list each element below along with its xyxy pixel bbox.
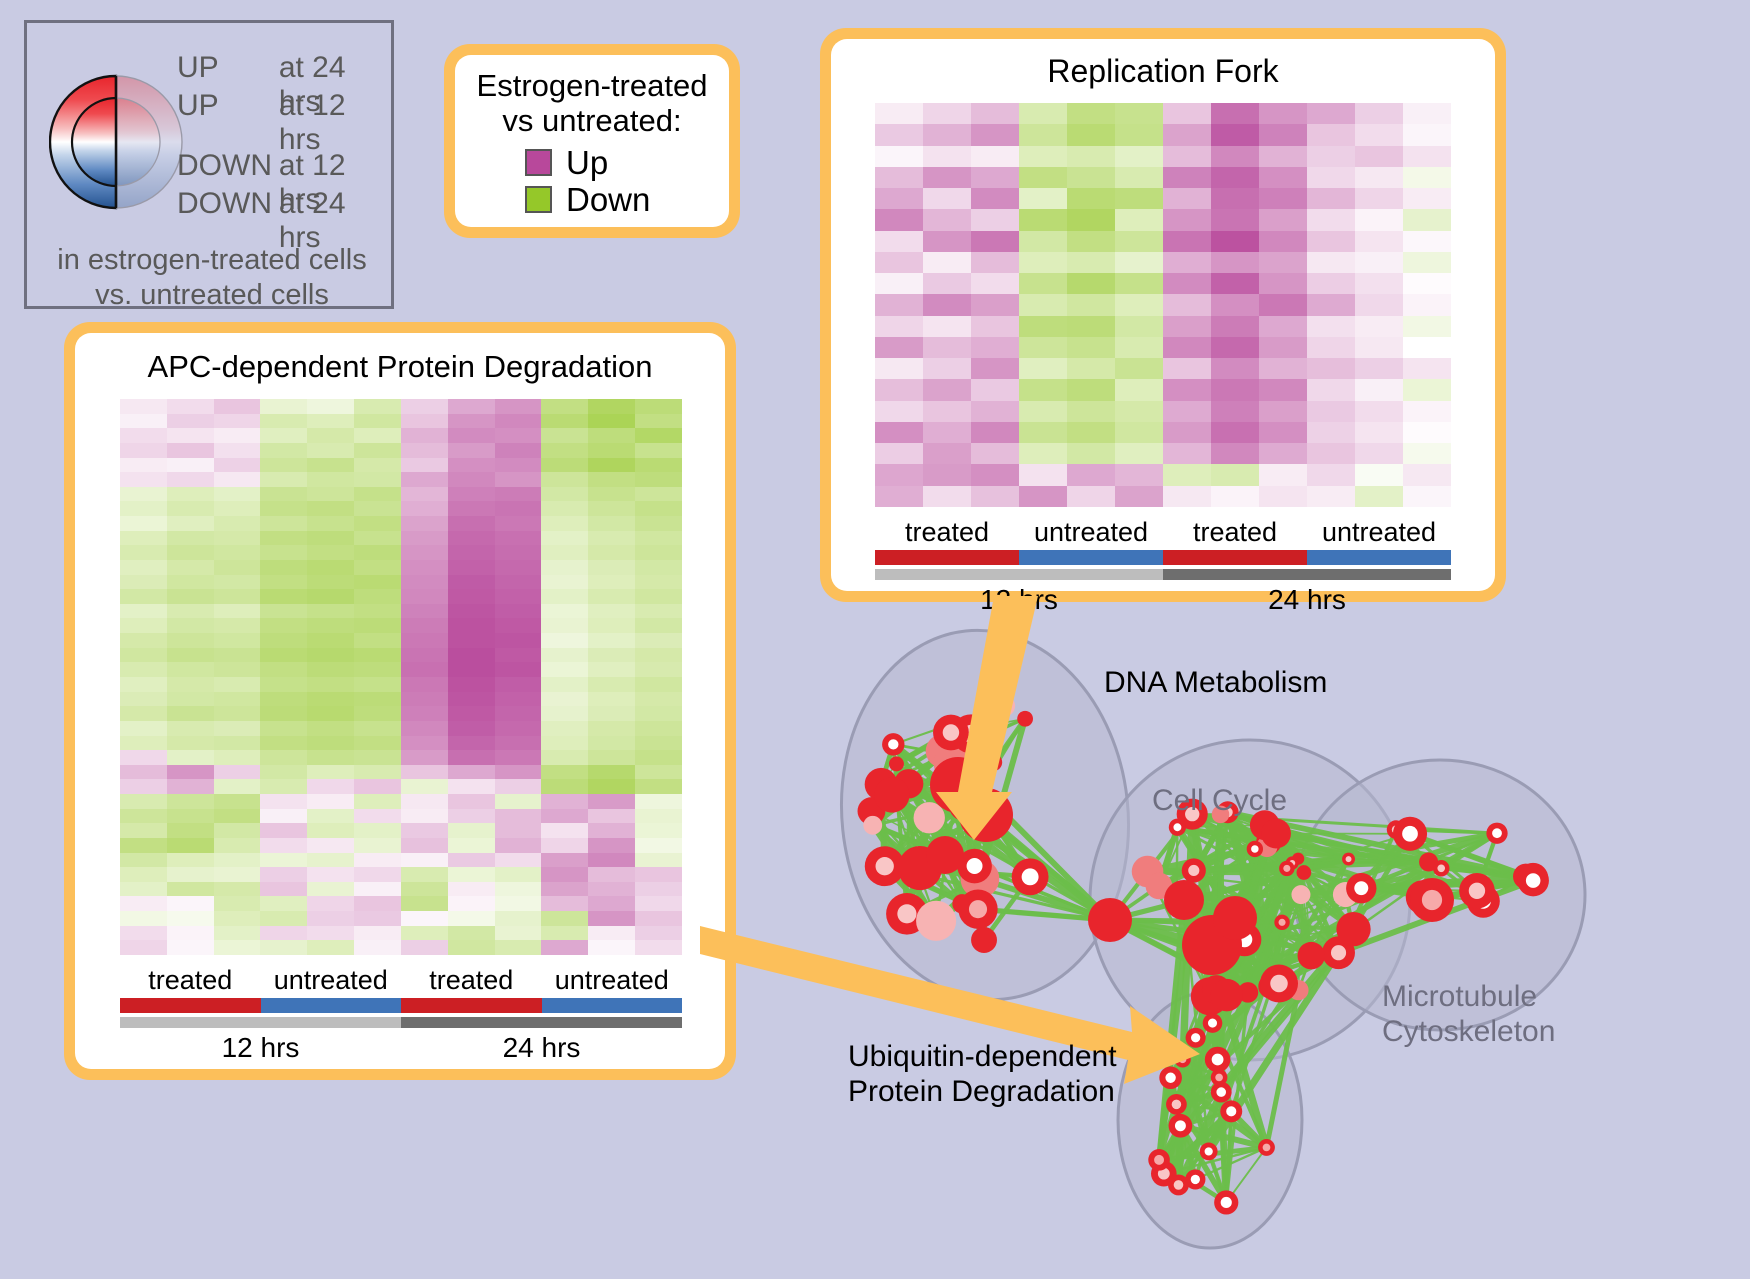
heatmap-cell [354,618,401,633]
heatmap-cell [1019,124,1067,145]
heatmap-cell [1355,379,1403,400]
heatmap-cell [1115,316,1163,337]
heatmap-cell [354,721,401,736]
heatmap-cell [214,794,261,809]
heatmap-cell [167,706,214,721]
heatmap-cell [1115,124,1163,145]
heatmap-cell [1259,486,1307,507]
heatmap-cell [401,940,448,955]
heatmap-cell [923,464,971,485]
heatmap-cell [1211,209,1259,230]
bar-segment-12hrs [120,1017,401,1028]
heatmap-cell [588,633,635,648]
heatmap-cell [1067,124,1115,145]
heatmap-cell [120,428,167,443]
heatmap-cell [1067,316,1115,337]
heatmap-cell [167,677,214,692]
heatmap-cell [635,736,682,751]
legend-item-up: Up [525,144,711,181]
bar-segment-untreated [542,998,683,1013]
heatmap-cell [495,604,542,619]
heatmap-cell [214,414,261,429]
heatmap-cell [307,604,354,619]
bar-segment-treated [401,998,542,1013]
heatmap-cell [1211,252,1259,273]
heatmap-cell [1067,486,1115,507]
heatmap-cell [167,940,214,955]
heatmap-cell [541,750,588,765]
heatmap-cell [167,809,214,824]
bar-segment-treated [120,998,261,1013]
heatmap-cell [401,531,448,546]
heatmap-cell [971,124,1019,145]
heatmap-cell [875,103,923,124]
heatmap-cell [1355,146,1403,167]
heatmap-legend-title-line2: vs untreated: [473,104,711,139]
axis-group-labels: treated untreated treated untreated [875,517,1451,548]
heatmap-cell [1067,167,1115,188]
heatmap-cell [260,853,307,868]
heatmap-cell [260,458,307,473]
heatmap-cell [1067,337,1115,358]
heatmap-cell [1163,231,1211,252]
heatmap-cell [588,545,635,560]
heatmap-cell [448,677,495,692]
heatmap-cell [1019,358,1067,379]
heatmap-cell [167,501,214,516]
heatmap-cell [214,428,261,443]
heatmap-cell [214,736,261,751]
heatmap-cell [1115,464,1163,485]
cluster-label-line1: Microtubule [1382,980,1555,1015]
heatmap-cell [214,604,261,619]
heatmap-cell [120,458,167,473]
heatmap-cell [875,188,923,209]
heatmap-cell [541,648,588,663]
heatmap-cell [354,501,401,516]
heatmap-cell [1211,443,1259,464]
heatmap-cell [1307,252,1355,273]
heatmap-cell [120,472,167,487]
heatmap-cell [541,589,588,604]
heatmap-cell [635,662,682,677]
heatmap-cell [120,896,167,911]
heatmap-cell [875,443,923,464]
heatmap-cell [541,458,588,473]
heatmap-cell [1403,358,1451,379]
heatmap-cell [260,692,307,707]
bar-segment-treated [1163,550,1307,565]
heatmap-cell [401,779,448,794]
heatmap-cell [635,750,682,765]
heatmap-cell [1403,464,1451,485]
heatmap-cell [1211,358,1259,379]
heatmap-cell [635,882,682,897]
heatmap-cell [448,560,495,575]
heatmap-cell [354,809,401,824]
heatmap-legend-title-line1: Estrogen-treated [473,69,711,104]
axis-group-label: untreated [1019,517,1163,548]
heatmap-cell [1115,167,1163,188]
heatmap-cell [1403,167,1451,188]
replication-fork-panel: Replication Fork treated untreated treat… [820,28,1506,602]
heatmap-cell [541,882,588,897]
heatmap-cell [923,337,971,358]
heatmap-cell [448,531,495,546]
heatmap-cell [875,379,923,400]
heatmap-cell [1019,337,1067,358]
heatmap-cell [448,721,495,736]
heatmap-cell [260,750,307,765]
heatmap-cell [1019,379,1067,400]
heatmap-cell [260,575,307,590]
heatmap-cell [635,853,682,868]
heatmap-cell [354,531,401,546]
heatmap-cell [214,853,261,868]
heatmap-cell [307,911,354,926]
heatmap-cell [588,662,635,677]
heatmap-cell [541,926,588,941]
heatmap-cell [541,838,588,853]
heatmap-cell [214,706,261,721]
heatmap-cell [167,838,214,853]
heatmap-cell [260,721,307,736]
heatmap-cell [167,472,214,487]
heatmap-cell [120,560,167,575]
heatmap-cell [260,867,307,882]
heatmap-cell [260,589,307,604]
heatmap-cell [401,399,448,414]
heatmap-cell [354,428,401,443]
heatmap-cell [260,560,307,575]
heatmap-cell [541,604,588,619]
heatmap-cell [875,401,923,422]
heatmap-cell [448,487,495,502]
heatmap-cell [167,648,214,663]
heatmap-cell [354,853,401,868]
heatmap-cell [214,692,261,707]
heatmap-cell [635,604,682,619]
heatmap-cell [401,853,448,868]
heatmap-cell [260,706,307,721]
heatmap-cell [495,531,542,546]
heatmap-cell [401,882,448,897]
heatmap-cell [875,337,923,358]
heatmap-cell [448,765,495,780]
heatmap-cell [588,560,635,575]
heatmap-cell [1019,486,1067,507]
heatmap-cell [971,188,1019,209]
heatmap-cell [260,736,307,751]
heatmap-cell [354,648,401,663]
heatmap-cell [448,911,495,926]
heatmap-cell [167,399,214,414]
heatmap-cell [1163,146,1211,167]
heatmap-cell [1163,422,1211,443]
heatmap-cell [260,633,307,648]
heatmap-cell [1403,273,1451,294]
heatmap-cell [120,736,167,751]
heatmap-cell [120,604,167,619]
heatmap-cell [260,545,307,560]
heatmap-cell [923,103,971,124]
heatmap-cell [1163,252,1211,273]
heatmap-cell [214,867,261,882]
heatmap-cell [1355,209,1403,230]
apc-degradation-inner: APC-dependent Protein Degradation treate… [75,333,725,1069]
heatmap-cell [260,662,307,677]
heatmap-cell [1163,443,1211,464]
heatmap-cell [1019,316,1067,337]
heatmap-cell [401,926,448,941]
heatmap-cell [260,882,307,897]
heatmap-cell [1355,252,1403,273]
heatmap-cell [354,472,401,487]
heatmap-cell [1355,188,1403,209]
heatmap-cell [541,501,588,516]
heatmap-cell [260,823,307,838]
heatmap-cell [448,399,495,414]
apc-degradation-panel: APC-dependent Protein Degradation treate… [64,322,736,1080]
heatmap-cell [875,146,923,167]
heatmap-cell [120,501,167,516]
heatmap-cell [260,472,307,487]
heatmap-cell [1355,273,1403,294]
heatmap-cell [1211,103,1259,124]
heatmap-cell [971,167,1019,188]
heatmap-cell [495,443,542,458]
heatmap-cell [260,516,307,531]
colorwheel-row: DOWN at 12 hrs [177,149,392,187]
heatmap-cell [1211,486,1259,507]
heatmap-cell [1115,337,1163,358]
heatmap-cell [448,823,495,838]
heatmap-cell [541,677,588,692]
colorwheel-state: UP [177,51,279,85]
heatmap-cell [495,706,542,721]
heatmap-cell [401,545,448,560]
heatmap-cell [354,487,401,502]
heatmap-cell [214,501,261,516]
colorwheel-footer: in estrogen-treated cells vs. untreated … [27,243,397,313]
heatmap-cell [307,428,354,443]
heatmap-cell [635,589,682,604]
heatmap-cell [354,750,401,765]
heatmap-cell [588,896,635,911]
heatmap-cell [1211,188,1259,209]
heatmap-cell [635,692,682,707]
heatmap-cell [167,794,214,809]
heatmap-cell [1115,273,1163,294]
heatmap-cell [588,736,635,751]
heatmap-cell [541,472,588,487]
heatmap-cell [588,809,635,824]
axis-group-label: untreated [542,965,683,996]
heatmap-cell [1307,401,1355,422]
heatmap-cell [635,911,682,926]
heatmap-cell [354,940,401,955]
heatmap-cell [1211,316,1259,337]
heatmap-cell [354,779,401,794]
heatmap-cell [635,399,682,414]
heatmap-cell [167,604,214,619]
heatmap-cell [1211,294,1259,315]
heatmap-cell [541,692,588,707]
heatmap-cell [120,706,167,721]
heatmap-cell [588,618,635,633]
heatmap-cell [495,677,542,692]
heatmap-cell [401,721,448,736]
heatmap-cell [1259,124,1307,145]
heatmap-cell [167,414,214,429]
heatmap-cell [1211,337,1259,358]
heatmap-cell [307,575,354,590]
heatmap-cell [495,721,542,736]
heatmap-cell [307,896,354,911]
heatmap-cell [875,486,923,507]
heatmap-cell [1355,486,1403,507]
heatmap-cell [635,940,682,955]
heatmap-cell [635,545,682,560]
heatmap-cell [401,501,448,516]
heatmap-cell [448,648,495,663]
heatmap-cell [635,501,682,516]
heatmap-cell [1259,337,1307,358]
heatmap-cell [1307,443,1355,464]
heatmap-cell [1307,337,1355,358]
heatmap-cell [1307,379,1355,400]
heatmap-replication-fork [875,103,1451,507]
heatmap-cell [448,633,495,648]
heatmap-cell [495,414,542,429]
heatmap-cell [167,531,214,546]
heatmap-cell [635,794,682,809]
heatmap-cell [1355,167,1403,188]
heatmap-cell [1355,124,1403,145]
axis-group-label: treated [120,965,261,996]
heatmap-cell [167,589,214,604]
heatmap-cell [167,692,214,707]
heatmap-cell [260,677,307,692]
heatmap-cell [214,677,261,692]
heatmap-cell [167,736,214,751]
heatmap-cell [541,940,588,955]
heatmap-cell [971,337,1019,358]
heatmap-cell [1307,146,1355,167]
heatmap-cell [495,648,542,663]
heatmap-cell [401,794,448,809]
heatmap-cell [541,896,588,911]
axis-group-bar [875,550,1451,565]
replication-fork-inner: Replication Fork treated untreated treat… [831,39,1495,591]
axis-group-label: treated [875,517,1019,548]
heatmap-cell [1067,379,1115,400]
heatmap-cell [214,472,261,487]
heatmap-cell [120,692,167,707]
colorwheel-legend-box: UP at 24 hrs UP at 12 hrs DOWN at 12 hrs… [24,20,394,309]
apc-axis: treated untreated treated untreated 12 h… [120,965,682,1064]
heatmap-cell [401,516,448,531]
heatmap-cell [1019,209,1067,230]
colorwheel-row: UP at 12 hrs [177,89,392,127]
heatmap-cell [307,560,354,575]
heatmap-cell [1115,379,1163,400]
heatmap-cell [260,414,307,429]
heatmap-cell [1019,231,1067,252]
heatmap-legend-inner: Estrogen-treated vs untreated: Up Down [455,55,729,227]
heatmap-cell [495,882,542,897]
heatmap-cell [401,692,448,707]
heatmap-cell [1067,188,1115,209]
heatmap-cell [167,721,214,736]
heatmap-cell [541,575,588,590]
heatmap-cell [354,443,401,458]
heatmap-cell [307,706,354,721]
heatmap-cell [401,765,448,780]
heatmap-cell [588,911,635,926]
heatmap-cell [260,501,307,516]
heatmap-cell [448,692,495,707]
heatmap-cell [1115,294,1163,315]
heatmap-cell [588,823,635,838]
heatmap-cell [1403,316,1451,337]
heatmap-cell [495,750,542,765]
cluster-label-dna-metabolism: DNA Metabolism [1104,666,1327,700]
heatmap-cell [875,231,923,252]
heatmap-cell [923,379,971,400]
heatmap-cell [635,721,682,736]
heatmap-cell [635,414,682,429]
heatmap-cell [1115,103,1163,124]
heatmap-cell [588,575,635,590]
heatmap-cell [120,809,167,824]
heatmap-cell [260,531,307,546]
heatmap-cell [1355,337,1403,358]
heatmap-cell [1307,294,1355,315]
heatmap-cell [260,940,307,955]
heatmap-cell [1067,146,1115,167]
heatmap-cell [401,458,448,473]
heatmap-cell [588,531,635,546]
heatmap-cell [1115,422,1163,443]
heatmap-cell [448,838,495,853]
heatmap-cell [875,124,923,145]
heatmap-cell [1307,422,1355,443]
heatmap-cell [1163,188,1211,209]
heatmap-cell [307,487,354,502]
heatmap-cell [541,545,588,560]
heatmap-cell [448,750,495,765]
heatmap-cell [495,779,542,794]
cluster-label-ubiquitin-degradation: Ubiquitin-dependent Protein Degradation [848,1040,1117,1109]
bar-segment-treated [875,550,1019,565]
heatmap-cell [354,458,401,473]
heatmap-cell [588,882,635,897]
page-title-apc: APC-dependent Protein Degradation [75,333,725,385]
heatmap-cell [167,443,214,458]
heatmap-cell [1019,167,1067,188]
heatmap-cell [401,428,448,443]
heatmap-cell [354,589,401,604]
heatmap-cell [214,911,261,926]
heatmap-cell [354,911,401,926]
heatmap-cell [1355,231,1403,252]
heatmap-cell [120,633,167,648]
heatmap-cell [1259,209,1307,230]
heatmap-cell [214,882,261,897]
heatmap-cell [588,794,635,809]
heatmap-cell [923,443,971,464]
